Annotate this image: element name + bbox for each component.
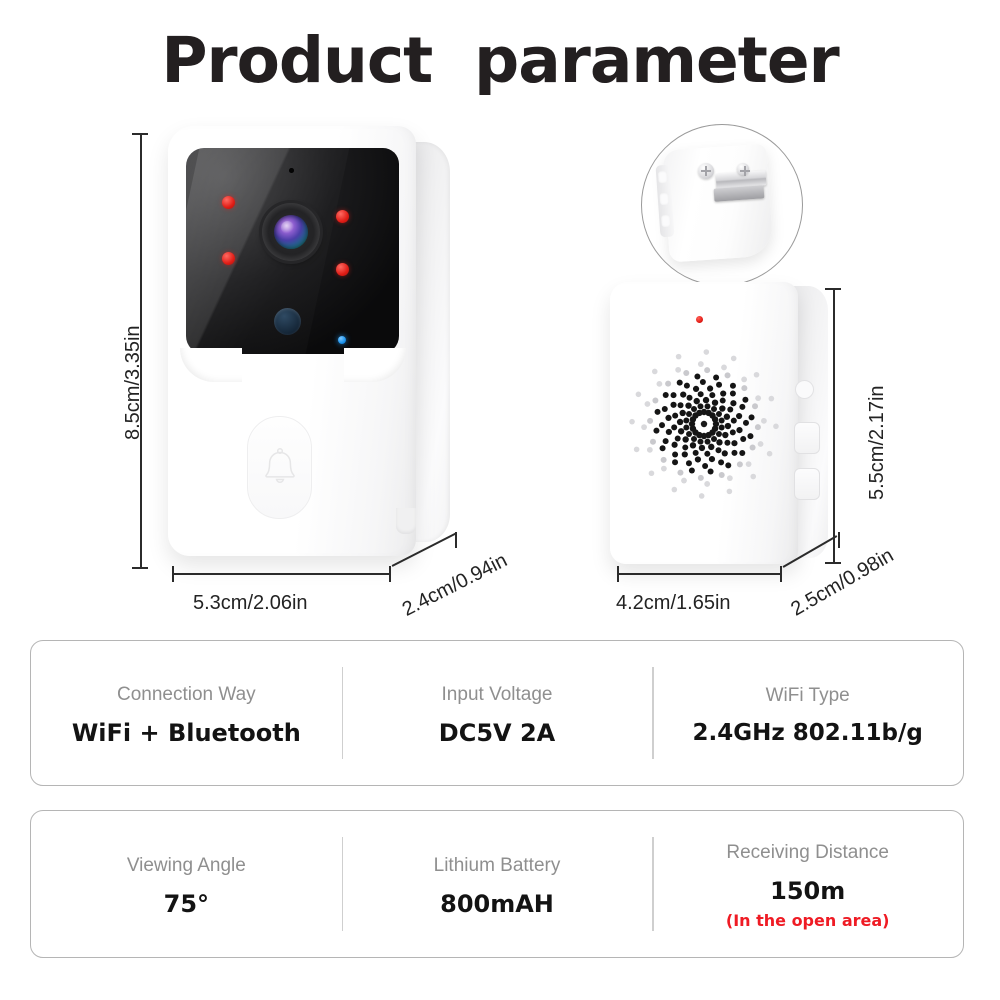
plug-back-housing (662, 144, 774, 263)
spec-note: (In the open area) (726, 911, 890, 930)
plug-edge-button (659, 193, 669, 206)
status-led-icon (338, 336, 346, 344)
spec-label: Lithium Battery (434, 855, 561, 877)
chime-height-cap-top (825, 288, 841, 290)
speaker-grille-icon (620, 340, 788, 508)
spec-value: WiFi + Bluetooth (72, 719, 301, 747)
chime-width-line (617, 573, 781, 575)
plug-edge-button (661, 215, 671, 228)
chime-width-label: 4.2cm/1.65in (616, 592, 731, 615)
spec-cell-connection-way: Connection Way WiFi + Bluetooth (31, 641, 342, 785)
doorbell-height-cap-bottom (132, 567, 148, 569)
doorbell-bottom-notch (396, 508, 416, 534)
doorbell-width-line (172, 573, 390, 575)
doorbell-width-cap-left (172, 566, 174, 582)
chime-depth-cap (838, 532, 840, 548)
microphone-hole-icon (289, 168, 294, 173)
chime-height-line (833, 288, 835, 563)
lens-iris (274, 215, 308, 249)
doorbell-height-label: 8.5cm/3.35in (122, 325, 145, 440)
doorbell-press-button[interactable] (247, 416, 312, 519)
chime-device (610, 282, 828, 572)
chime-round-button[interactable] (795, 380, 814, 399)
pir-sensor-icon (274, 308, 301, 335)
spec-label: Input Voltage (442, 684, 553, 706)
spec-label: Receiving Distance (726, 842, 889, 864)
spec-cell-input-voltage: Input Voltage DC5V 2A (342, 641, 653, 785)
plug-edge-button (658, 171, 668, 184)
page-title: Product parameter (0, 24, 1000, 97)
spec-card-row-1: Connection Way WiFi + Bluetooth Input Vo… (30, 640, 964, 786)
spec-card-row-2: Viewing Angle 75° Lithium Battery 800mAH… (30, 810, 964, 958)
spec-label: WiFi Type (766, 685, 850, 707)
doorbell-device (168, 126, 450, 563)
ir-led-icon (336, 210, 349, 223)
plug-detail-inset (641, 124, 803, 286)
spec-value: 75° (164, 890, 209, 918)
chime-body (610, 282, 798, 564)
doorbell-depth-cap (455, 532, 457, 548)
body-shoulder-left (180, 348, 242, 382)
chime-melody-button[interactable] (794, 468, 820, 500)
body-shoulder-right (344, 348, 406, 382)
spec-cell-viewing-angle: Viewing Angle 75° (31, 811, 342, 957)
ir-led-icon (222, 196, 235, 209)
spec-value: 800mAH (440, 890, 554, 918)
doorbell-width-label: 5.3cm/2.06in (193, 592, 308, 615)
spec-cell-wifi-type: WiFi Type 2.4GHz 802.11b/g (652, 641, 963, 785)
spec-label: Connection Way (117, 684, 256, 706)
doorbell-front-panel (186, 148, 399, 354)
bell-icon (260, 446, 300, 490)
chime-width-cap-left (617, 566, 619, 582)
screw-icon (737, 163, 749, 175)
ir-led-icon (222, 252, 235, 265)
product-parameter-page: Product parameter (0, 0, 1000, 1000)
chime-width-cap-right (780, 566, 782, 582)
spec-value: 150m (770, 877, 845, 905)
doorbell-width-cap-right (389, 566, 391, 582)
screw-icon (698, 163, 714, 179)
chime-height-label: 5.5cm/2.17in (866, 385, 889, 500)
doorbell-height-cap-top (132, 133, 148, 135)
camera-lens-icon (262, 203, 320, 261)
spec-cell-receiving-distance: Receiving Distance 150m (In the open are… (652, 811, 963, 957)
ir-led-icon (336, 263, 349, 276)
chime-height-cap-bottom (825, 562, 841, 564)
chime-led-icon (696, 316, 703, 323)
spec-value: DC5V 2A (439, 719, 555, 747)
spec-label: Viewing Angle (127, 855, 246, 877)
chime-volume-button[interactable] (794, 422, 820, 454)
spec-value: 2.4GHz 802.11b/g (693, 720, 923, 746)
spec-cell-lithium-battery: Lithium Battery 800mAH (342, 811, 653, 957)
doorbell-body (168, 126, 416, 556)
